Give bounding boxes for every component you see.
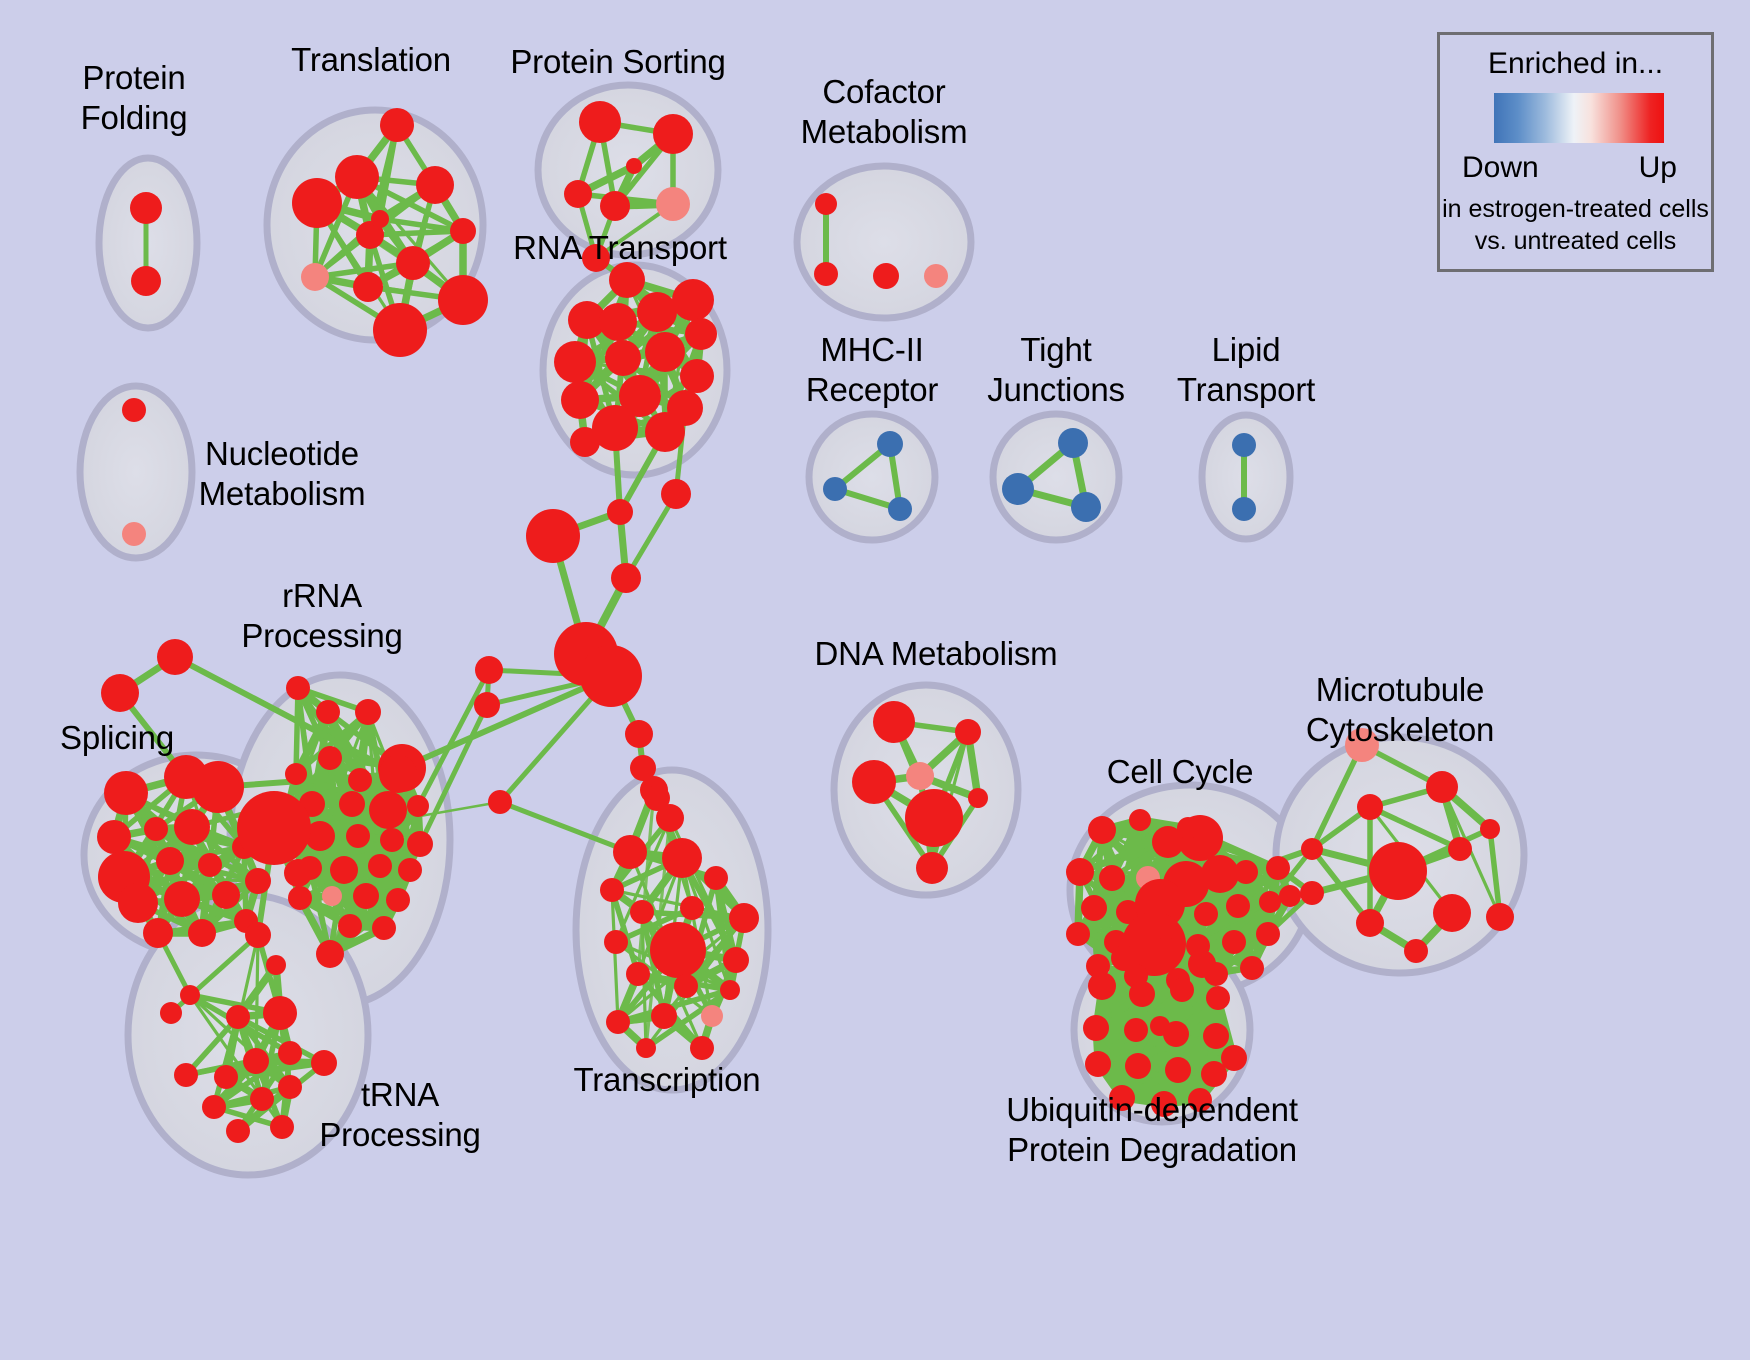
network-node-transcription [651, 1003, 677, 1029]
network-node-cell-cycle [1222, 930, 1246, 954]
network-node-bridge [661, 479, 691, 509]
network-node-splicing [245, 868, 271, 894]
network-node-translation [353, 272, 383, 302]
network-node-splicing [198, 853, 222, 877]
network-node-ubiquitin-protein-degradation [1125, 1053, 1151, 1079]
network-node-transcription [662, 838, 702, 878]
network-node-rrna-processing [322, 886, 342, 906]
network-node-protein-sorting [656, 187, 690, 221]
network-node-translation [416, 166, 454, 204]
network-node-rrna-processing [346, 824, 370, 848]
network-node-ubiquitin-protein-degradation [1124, 1018, 1148, 1042]
network-node-rrna-processing [407, 831, 433, 857]
cluster-label-protein-folding: Protein Folding [81, 58, 188, 138]
network-node-protein-folding [130, 192, 162, 224]
cluster-label-tight-junctions: Tight Junctions [987, 330, 1125, 410]
network-node-splicing [192, 761, 244, 813]
network-node-transcription [720, 980, 740, 1000]
network-node-transcription [630, 900, 654, 924]
network-node-splicing [144, 817, 168, 841]
network-node-splicing [104, 771, 148, 815]
network-node-bridge [644, 785, 670, 811]
cluster-label-cofactor-metabolism: Cofactor Metabolism [801, 72, 968, 152]
network-node-nucleotide-metabolism [122, 522, 146, 546]
cluster-label-rrna-processing: rRNA Processing [241, 576, 402, 656]
network-node-dna-metabolism [905, 789, 963, 847]
network-node-rrna-processing [316, 940, 344, 968]
cluster-label-lipid-transport: Lipid Transport [1177, 330, 1315, 410]
network-node-ubiquitin-protein-degradation [1129, 981, 1155, 1007]
legend-low-label: Down [1462, 151, 1539, 185]
network-node-rrna-processing [348, 768, 372, 792]
network-node-trna-processing [266, 955, 286, 975]
network-node-trna-processing [263, 996, 297, 1030]
network-node-ubiquitin-protein-degradation [1203, 1023, 1229, 1049]
network-node-rrna-processing [318, 746, 342, 770]
network-node-cell-cycle [1226, 894, 1250, 918]
network-node-cell-cycle [1088, 816, 1116, 844]
network-node-cofactor-metabolism [873, 263, 899, 289]
network-node-trna-processing [174, 1063, 198, 1087]
network-node-rrna-processing [380, 828, 404, 852]
network-node-rna-transport [554, 341, 596, 383]
network-node-splicing [164, 881, 200, 917]
network-node-rrna-processing [368, 854, 392, 878]
network-node-tight-junctions [1071, 492, 1101, 522]
network-node-translation [373, 303, 427, 357]
network-node-transcription [704, 866, 728, 890]
network-node-rna-transport [680, 359, 714, 393]
network-node-protein-sorting [626, 158, 642, 174]
cluster-blob-mhc-ii-receptor [809, 414, 935, 540]
network-node-rna-transport [685, 318, 717, 350]
network-node-cell-cycle [1066, 858, 1094, 886]
network-node-rrna-processing [353, 883, 379, 909]
network-node-transcription [723, 947, 749, 973]
network-node-tight-junctions [1058, 428, 1088, 458]
network-node-cell-cycle [1081, 895, 1107, 921]
network-node-ubiquitin-protein-degradation [1083, 1015, 1109, 1041]
network-node-trna-processing [243, 1048, 269, 1074]
network-node-protein-sorting [579, 101, 621, 143]
network-node-splicing [188, 919, 216, 947]
network-node-transcription [604, 930, 628, 954]
network-node-rna-transport [570, 427, 600, 457]
network-node-ubiquitin-protein-degradation [1085, 1051, 1111, 1077]
network-node-rrna-processing [316, 700, 340, 724]
network-node-ubiquitin-protein-degradation [1088, 972, 1116, 1000]
network-node-cell-cycle [1201, 855, 1239, 893]
cluster-label-splicing: Splicing [60, 718, 174, 758]
network-node-cell-cycle [1256, 922, 1280, 946]
network-node-trna-processing [226, 1005, 250, 1029]
network-node-microtubule-cytoskeleton [1300, 881, 1324, 905]
network-node-rrna-processing [237, 791, 311, 865]
network-node-microtubule-cytoskeleton [1404, 939, 1428, 963]
network-node-microtubule-cytoskeleton [1357, 794, 1383, 820]
network-node-rna-transport [637, 292, 677, 332]
network-node-cell-cycle [1266, 856, 1290, 880]
network-node-tight-junctions [1002, 473, 1034, 505]
cluster-label-cell-cycle: Cell Cycle [1107, 752, 1254, 792]
network-node-protein-sorting [653, 114, 693, 154]
network-node-ubiquitin-protein-degradation [1206, 986, 1230, 1010]
network-node-dna-metabolism [916, 852, 948, 884]
network-node-cofactor-metabolism [814, 262, 838, 286]
network-figure: Protein FoldingTranslationProtein Sortin… [0, 0, 1750, 1360]
network-node-transcription [680, 896, 704, 920]
network-node-protein-sorting [564, 180, 592, 208]
network-node-bridge [580, 645, 642, 707]
network-node-dna-metabolism [852, 760, 896, 804]
network-node-dna-metabolism [955, 719, 981, 745]
network-node-mhc-ii-receptor [823, 477, 847, 501]
network-node-translation [292, 178, 342, 228]
network-node-ubiquitin-protein-degradation [1165, 1057, 1191, 1083]
network-node-cell-cycle [1240, 956, 1264, 980]
network-node-rrna-processing [398, 858, 422, 882]
network-node-bridge [101, 674, 139, 712]
cluster-label-mhc-ii-receptor: MHC-II Receptor [806, 330, 938, 410]
network-node-ubiquitin-protein-degradation [1153, 937, 1179, 963]
network-node-cell-cycle [1066, 922, 1090, 946]
network-node-trna-processing [278, 1075, 302, 1099]
network-node-cell-cycle [1099, 865, 1125, 891]
network-node-trna-processing [226, 1119, 250, 1143]
network-edge [402, 676, 611, 768]
network-node-splicing [212, 881, 240, 909]
network-node-trna-processing [180, 985, 200, 1005]
network-node-bridge [488, 790, 512, 814]
cluster-label-microtubule-cytoskeleton: Microtubule Cytoskeleton [1306, 670, 1494, 750]
cluster-label-rna-transport: RNA Transport [513, 228, 727, 268]
legend-panel: Enriched in... Down Up in estrogen-treat… [1437, 32, 1714, 272]
network-node-trna-processing [311, 1050, 337, 1076]
network-node-rna-transport [645, 412, 685, 452]
network-node-splicing [174, 809, 210, 845]
network-node-microtubule-cytoskeleton [1448, 837, 1472, 861]
network-node-rna-transport [645, 332, 685, 372]
cluster-label-protein-sorting: Protein Sorting [510, 42, 725, 82]
network-node-cell-cycle [1129, 809, 1151, 831]
network-node-bridge [625, 720, 653, 748]
network-node-dna-metabolism [906, 762, 934, 790]
cluster-label-ubiquitin-protein-degradation: Ubiquitin-dependent Protein Degradation [1006, 1090, 1298, 1170]
network-node-splicing [143, 918, 173, 948]
network-node-rrna-processing [286, 676, 310, 700]
network-node-microtubule-cytoskeleton [1426, 771, 1458, 803]
network-node-microtubule-cytoskeleton [1486, 903, 1514, 931]
cluster-label-trna-processing: tRNA Processing [319, 1075, 480, 1155]
network-node-mhc-ii-receptor [888, 497, 912, 521]
network-node-protein-folding [131, 266, 161, 296]
network-node-translation [371, 210, 389, 228]
network-node-nucleotide-metabolism [122, 398, 146, 422]
network-node-rrna-processing [288, 886, 312, 910]
network-node-rna-transport [605, 340, 641, 376]
network-node-ubiquitin-protein-degradation [1188, 950, 1216, 978]
legend-color-gradient-bar [1494, 93, 1664, 143]
legend-caption-line1: in estrogen-treated cells [1440, 195, 1711, 224]
network-node-trna-processing [278, 1041, 302, 1065]
network-node-rrna-processing [339, 791, 365, 817]
network-node-splicing [118, 883, 158, 923]
network-node-transcription [701, 1005, 723, 1027]
network-node-transcription [650, 922, 706, 978]
network-node-trna-processing [284, 859, 312, 887]
network-node-rrna-processing [330, 856, 358, 884]
network-node-transcription [674, 974, 698, 998]
network-node-bridge [160, 1002, 182, 1024]
network-node-bridge [379, 755, 417, 793]
network-node-transcription [606, 1010, 630, 1034]
network-node-ubiquitin-protein-degradation [1150, 1016, 1170, 1036]
network-node-microtubule-cytoskeleton [1433, 894, 1471, 932]
network-node-bridge [607, 499, 633, 525]
cluster-label-transcription: Transcription [574, 1060, 761, 1100]
network-node-rrna-processing [285, 763, 307, 785]
network-node-rrna-processing [372, 916, 396, 940]
network-node-trna-processing [270, 1115, 294, 1139]
network-node-bridge [611, 563, 641, 593]
network-node-translation [450, 218, 476, 244]
network-node-ubiquitin-protein-degradation [1201, 1061, 1227, 1087]
network-node-splicing [156, 847, 184, 875]
network-node-ubiquitin-protein-degradation [1111, 945, 1137, 971]
network-node-rna-transport [561, 381, 599, 419]
network-node-microtubule-cytoskeleton [1301, 838, 1323, 860]
network-node-bridge [526, 509, 580, 563]
network-node-rrna-processing [386, 888, 410, 912]
network-node-trna-processing [214, 1065, 238, 1089]
network-node-splicing [97, 820, 131, 854]
network-node-bridge [474, 692, 500, 718]
network-node-transcription [729, 903, 759, 933]
network-node-trna-processing [245, 922, 271, 948]
network-node-translation [301, 263, 329, 291]
network-node-cell-cycle [1234, 860, 1258, 884]
network-node-mhc-ii-receptor [877, 431, 903, 457]
network-node-cofactor-metabolism [815, 193, 837, 215]
network-node-transcription [636, 1038, 656, 1058]
network-node-ubiquitin-protein-degradation [1170, 978, 1194, 1002]
cluster-label-dna-metabolism: DNA Metabolism [815, 634, 1058, 674]
network-node-translation [380, 108, 414, 142]
network-node-rna-transport [599, 303, 637, 341]
legend-high-label: Up [1639, 151, 1677, 185]
network-node-dna-metabolism [873, 701, 915, 743]
network-node-cell-cycle [1279, 885, 1301, 907]
network-node-microtubule-cytoskeleton [1356, 909, 1384, 937]
cluster-label-translation: Translation [291, 40, 451, 80]
network-node-trna-processing [250, 1087, 274, 1111]
network-node-trna-processing [202, 1095, 226, 1119]
network-node-cell-cycle [1194, 902, 1218, 926]
network-node-rrna-processing [338, 914, 362, 938]
network-node-translation [335, 155, 379, 199]
network-node-rna-transport [672, 279, 714, 321]
network-node-protein-sorting [600, 191, 630, 221]
network-node-dna-metabolism [968, 788, 988, 808]
cluster-label-nucleotide-metabolism: Nucleotide Metabolism [199, 434, 366, 514]
network-node-rrna-processing [369, 791, 407, 829]
legend-title: Enriched in... [1440, 47, 1711, 81]
network-node-cofactor-metabolism [924, 264, 948, 288]
network-node-transcription [613, 835, 647, 869]
network-node-transcription [626, 962, 650, 986]
network-node-cell-cycle [1259, 891, 1281, 913]
network-node-rrna-processing [407, 795, 429, 817]
network-node-bridge [475, 656, 503, 684]
network-node-translation [396, 246, 430, 280]
network-node-rrna-processing [355, 699, 381, 725]
network-node-microtubule-cytoskeleton [1369, 842, 1427, 900]
network-node-transcription [600, 878, 624, 902]
network-node-bridge [157, 639, 193, 675]
legend-caption-line2: vs. untreated cells [1440, 227, 1711, 256]
network-node-cell-cycle [1177, 817, 1199, 839]
network-node-bridge [630, 755, 656, 781]
network-node-microtubule-cytoskeleton [1480, 819, 1500, 839]
network-node-lipid-transport [1232, 433, 1256, 457]
network-node-lipid-transport [1232, 497, 1256, 521]
network-node-transcription [690, 1036, 714, 1060]
network-node-translation [438, 275, 488, 325]
